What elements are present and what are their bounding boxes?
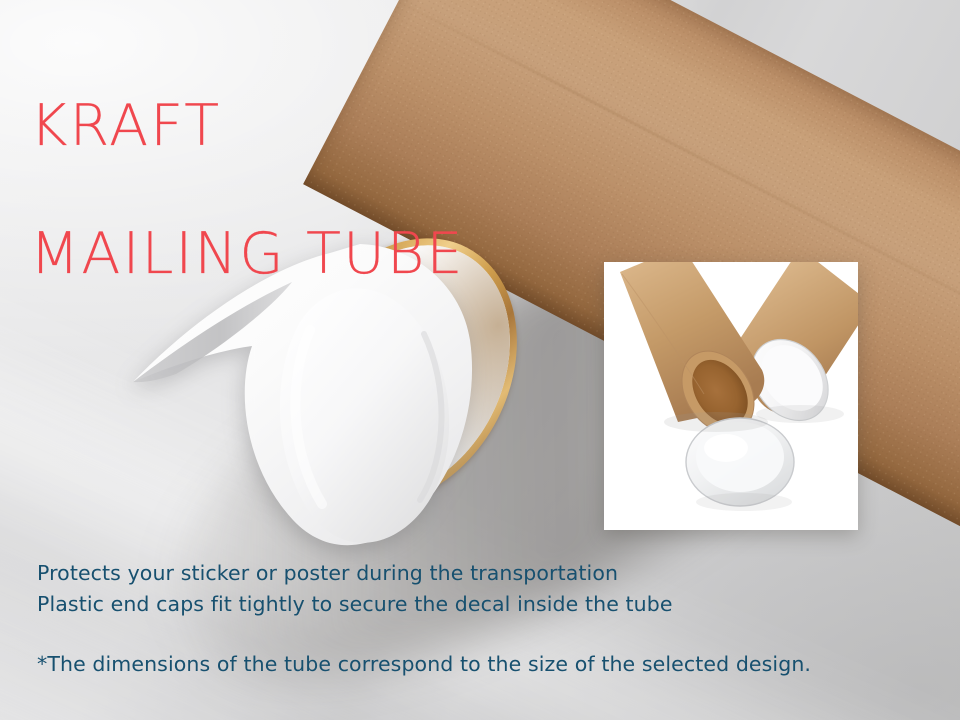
feature-copy: Protects your sticker or poster during t… (37, 558, 673, 620)
inset-shadow-left (664, 412, 768, 432)
inset-photo-artwork (604, 262, 858, 530)
title-line-2: MAILING TUBE (30, 222, 465, 286)
title-line-1: KRAFT (30, 94, 465, 158)
inset-shadow-cap (696, 493, 792, 511)
inset-shadow-right (756, 405, 844, 423)
footnote: *The dimensions of the tube correspond t… (37, 652, 811, 676)
feature-line-1: Protects your sticker or poster during t… (37, 558, 673, 589)
page-title: KRAFT MAILING TUBE (30, 30, 465, 350)
product-banner: KRAFT MAILING TUBE Protects your sticker… (0, 0, 960, 720)
inset-product-photo[interactable] (604, 262, 858, 530)
feature-line-2: Plastic end caps fit tightly to secure t… (37, 589, 673, 620)
